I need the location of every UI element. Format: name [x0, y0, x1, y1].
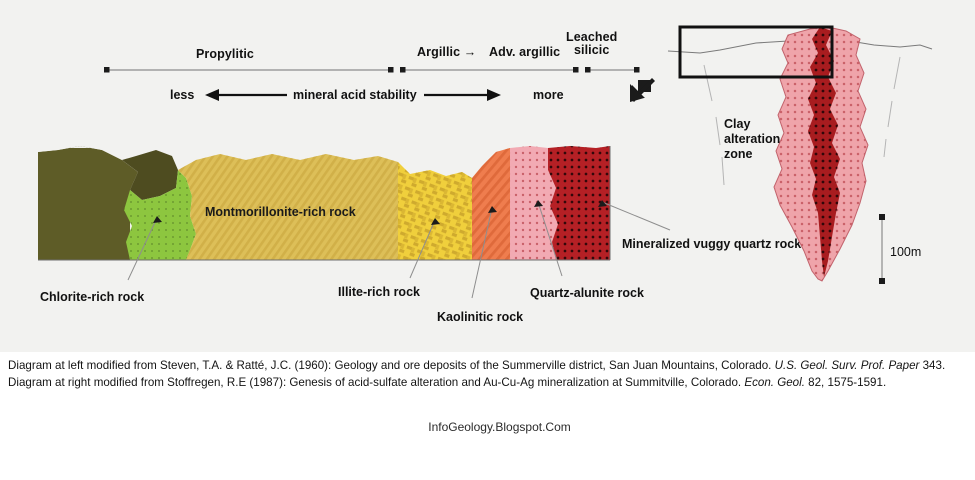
caption-italic2: Econ. Geol. — [744, 376, 805, 389]
cross-section-graphic — [10, 130, 710, 360]
zone-label-leached-silicic-line2: silicic — [566, 44, 617, 57]
screenshot-root: Propylitic Argillic → Adv. argillic Leac… — [0, 0, 975, 480]
clay-alteration-zone-label: Clay alteration zone — [724, 117, 780, 162]
stability-more-label: more — [533, 88, 564, 102]
figure-panel: Propylitic Argillic → Adv. argillic Leac… — [0, 0, 975, 352]
zone-label-propylitic: Propylitic — [196, 47, 254, 61]
fault-traces-right — [884, 57, 900, 157]
scale-bar-label: 100m — [890, 245, 921, 259]
clay-label-line1: Clay — [724, 117, 780, 132]
clay-label-line3: zone — [724, 147, 780, 162]
vertical-section-graphic — [660, 5, 975, 325]
zone-label-leached-silicic: Leached silicic — [566, 31, 617, 57]
zone-label-argillic: Argillic → — [417, 45, 476, 59]
zone-label-adv-argillic: Adv. argillic — [489, 45, 560, 59]
watermark-text: InfoGeology.Blogspot.Com — [428, 420, 571, 434]
fault-traces-left — [704, 65, 724, 185]
scale-bar-100m — [879, 214, 885, 284]
inline-label-montmorillonite: Montmorillonite-rich rock — [205, 205, 356, 219]
figure-caption: Diagram at left modified from Steven, T.… — [8, 358, 966, 391]
callout-label-chlorite-rich-rock: Chlorite-rich rock — [40, 290, 144, 304]
clay-label-line2: alteration — [724, 132, 780, 147]
stability-less-label: less — [170, 88, 194, 102]
figure-inner: Propylitic Argillic → Adv. argillic Leac… — [0, 0, 975, 352]
callout-label-quartz-alunite-rock: Quartz-alunite rock — [530, 286, 644, 300]
site-watermark: InfoGeology.Blogspot.Com — [0, 420, 975, 434]
down-left-arrow-icon — [630, 78, 655, 102]
stability-center-label: mineral acid stability — [293, 88, 417, 102]
callout-label-kaolinitic-rock: Kaolinitic rock — [437, 310, 523, 324]
caption-italic1: U.S. Geol. Surv. Prof. Paper — [775, 359, 920, 372]
callout-label-illite-rich-rock: Illite-rich rock — [338, 285, 420, 299]
caption-part1: Diagram at left modified from Steven, T.… — [8, 359, 775, 372]
unit-dark-olive — [38, 146, 138, 260]
caption-part3: 82, 1575-1591. — [805, 376, 886, 389]
